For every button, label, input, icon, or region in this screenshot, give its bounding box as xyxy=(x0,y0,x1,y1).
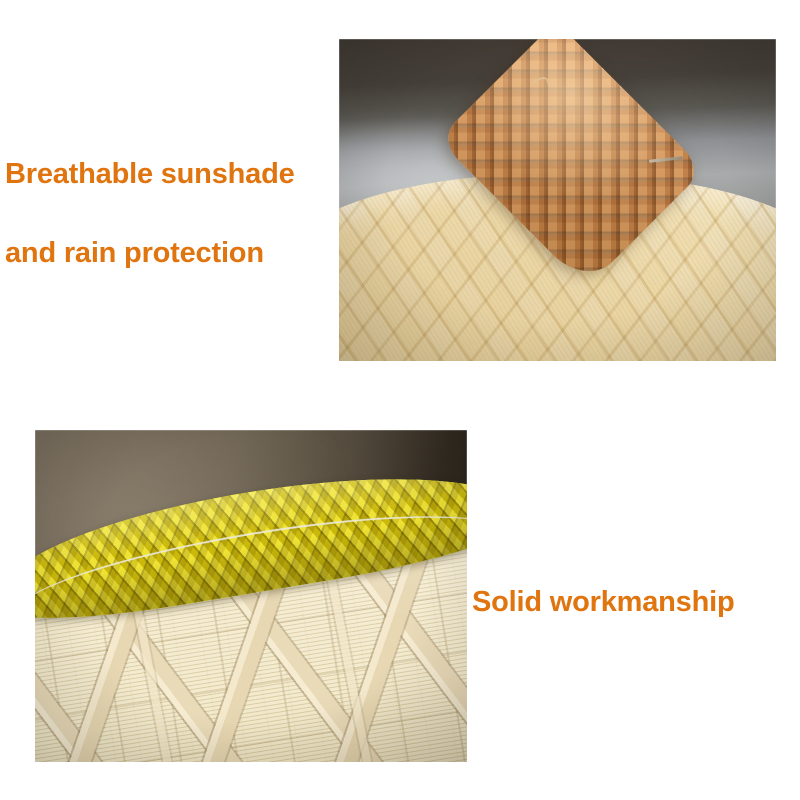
feature-caption-workmanship: Solid workmanship xyxy=(472,588,734,617)
photo-brim-braid-content xyxy=(35,430,467,762)
photo-brim-braid xyxy=(35,430,467,762)
feature-caption-breathable-line1: Breathable sunshade xyxy=(5,160,295,189)
photo-hat-apex-content xyxy=(339,39,776,361)
photo-hat-apex xyxy=(339,39,776,361)
product-feature-infographic: Breathable sunshade and rain protection … xyxy=(0,0,800,800)
feature-caption-breathable: Breathable sunshade and rain protection xyxy=(5,160,295,268)
feature-caption-breathable-line2: and rain protection xyxy=(5,239,295,268)
